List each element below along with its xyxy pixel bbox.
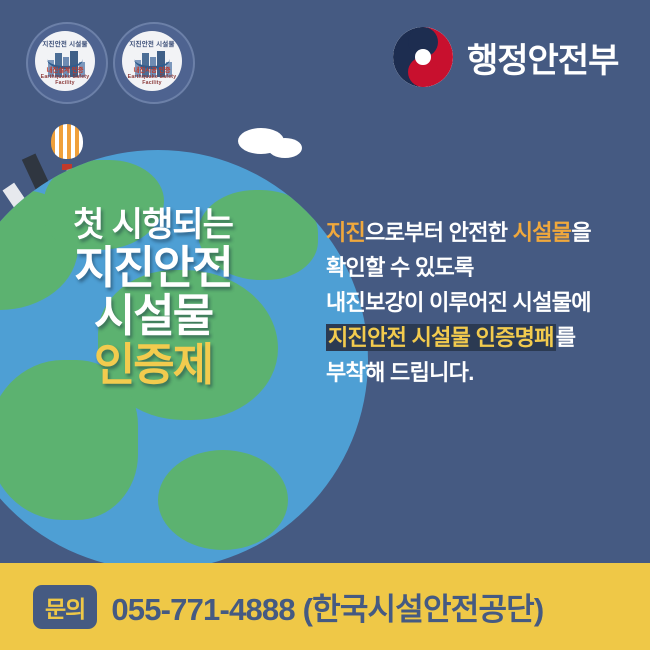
body-accent-earthquake: 지진	[326, 220, 365, 245]
cloud-icon	[268, 138, 302, 158]
body-line-1: 지진으로부터 안전한 시설물을	[326, 218, 626, 247]
body-line-1-mid: 으로부터 안전한	[365, 220, 513, 245]
headline-line-2: 지진안전	[33, 245, 273, 291]
poster-canvas: 지진안전 시설물 내진설계 인증 Earthquake Safety Facil…	[0, 0, 650, 650]
seal-arc-bottom-text: Earthquake Safety Facility	[122, 74, 182, 86]
seal-center-label: 내진시공 인증	[122, 65, 182, 74]
body-line-2: 확인할 수 있도록	[326, 253, 626, 282]
headline-line-4: 인증제	[33, 342, 273, 388]
seal-arc-top-text: 지진안전 시설물	[35, 38, 95, 48]
body-line-5: 부착해 드립니다.	[326, 358, 626, 387]
page-title: 첫 시행되는 지진안전 시설물 인증제	[33, 208, 273, 388]
body-accent-facility: 시설물	[513, 220, 572, 245]
seal-arc-top-text: 지진안전 시설물	[122, 38, 182, 48]
seal-arc-bottom-text: Earthquake Safety Facility	[35, 74, 95, 86]
seal-earthquake-construction: 지진안전 시설물 내진시공 인증 Earthquake Safety Facil…	[113, 22, 195, 104]
headline-line-3: 시설물	[33, 293, 273, 339]
body-line-4-tail: 를	[556, 325, 576, 350]
seal-earthquake-design: 지진안전 시설물 내진설계 인증 Earthquake Safety Facil…	[26, 22, 108, 104]
ministry-name: 행정안전부	[467, 33, 618, 82]
seal-center-label: 내진설계 인증	[35, 65, 95, 74]
inquiry-badge: 문의	[33, 585, 97, 629]
headline-line-1: 첫 시행되는	[33, 208, 273, 243]
ministry-logo-block: 행정안전부	[393, 27, 618, 87]
contact-phone: 055-771-4888 (한국시설안전공단)	[111, 584, 543, 629]
body-highlight-plaque: 지진안전 시설물 인증명패	[326, 324, 556, 351]
contact-footer: 문의 055-771-4888 (한국시설안전공단)	[0, 563, 650, 650]
body-line-1-tail: 을	[571, 220, 591, 245]
body-line-3: 내진보강이 이루어진 시설물에	[326, 288, 626, 317]
body-copy: 지진으로부터 안전한 시설물을 확인할 수 있도록 내진보강이 이루어진 시설물…	[326, 218, 626, 393]
taeguk-emblem-icon	[393, 27, 453, 87]
body-line-4: 지진안전 시설물 인증명패를	[326, 323, 626, 352]
